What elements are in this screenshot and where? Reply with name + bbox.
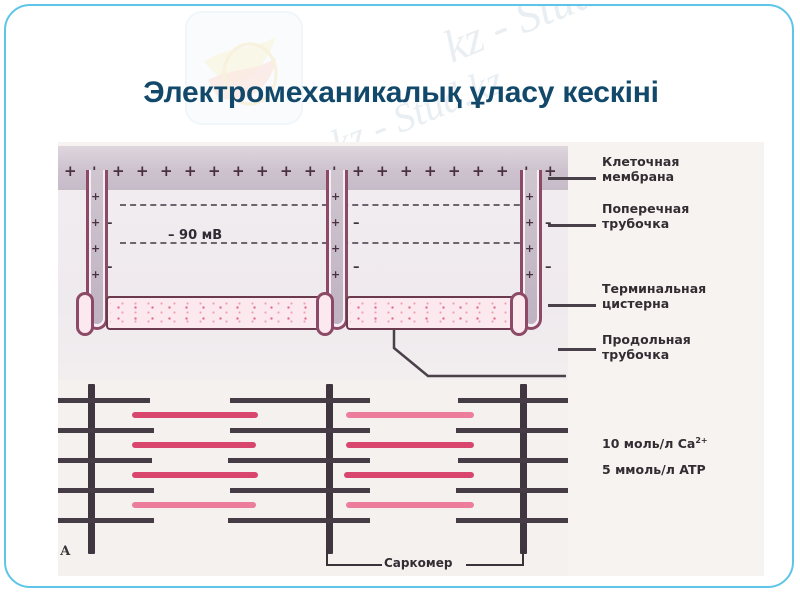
myosin-filament (344, 472, 474, 478)
slide-canvas: kz - Stud.kz kz - Stud.kz Электромеханик… (4, 4, 794, 588)
tubule-positive-charge: + (525, 216, 534, 229)
tubule-positive-charge: + (91, 190, 100, 203)
concentration-atp: 5 ммоль/л ATP (602, 462, 706, 477)
myosin-filament (132, 412, 258, 418)
tubule-positive-charge: + (525, 268, 534, 281)
tubule-positive-charge: + (331, 242, 340, 255)
z-line (88, 384, 95, 554)
leader-line-longitudinal-tubule (558, 348, 596, 351)
myofilament-lattice: Саркомер А (58, 380, 568, 576)
z-line (326, 384, 333, 554)
sarcomere-label: Саркомер (384, 556, 452, 570)
actin-filament (58, 488, 154, 493)
actin-filament (230, 488, 370, 493)
actin-filament (58, 458, 152, 463)
concentration-unit: ммоль/л (615, 462, 675, 477)
tubule-positive-charge: + (331, 190, 340, 203)
label-longitudinal-tubule: Продольная трубочка (602, 332, 691, 362)
actin-filament (230, 398, 370, 403)
label-line-2: трубочка (602, 216, 669, 231)
tubule-positive-charge: + (525, 190, 534, 203)
label-line-2: трубочка (602, 347, 669, 362)
concentration-unit: моль/л (624, 436, 674, 451)
z-line (520, 384, 527, 554)
label-line-2: цистерна (602, 296, 669, 311)
concentration-calcium: 10 моль/л Ca2+ (602, 436, 708, 451)
label-line-1: Продольная (602, 332, 691, 347)
actin-filament (228, 458, 370, 463)
terminal-cisterna (76, 292, 94, 336)
concentration-value: 10 (602, 436, 619, 451)
leader-line-terminal-cisterna (548, 304, 596, 307)
longitudinal-tubule-leader (388, 328, 568, 388)
actin-filament (456, 488, 568, 493)
diagram-figure: ++ ++ ++ ++ ++ ++ ++ ++ ++ ++ + (58, 142, 764, 576)
actin-filament (228, 518, 370, 523)
actin-filament (458, 458, 568, 463)
actin-filament (58, 398, 150, 403)
label-line-2: мембрана (602, 169, 674, 184)
panel-letter: А (60, 544, 71, 559)
muscle-cell-diagram: ++ ++ ++ ++ ++ ++ ++ ++ ++ ++ + (58, 142, 568, 576)
myosin-filament (346, 412, 474, 418)
sarcomere-bracket: Саркомер (326, 550, 526, 576)
tubule-positive-charge: + (331, 216, 340, 229)
inner-negative-charge: – (545, 260, 552, 275)
label-line-1: Поперечная (602, 201, 689, 216)
sarcoplasmic-reticulum (346, 296, 518, 330)
actin-filament (456, 518, 568, 523)
label-line-1: Клеточная (602, 154, 679, 169)
inner-negative-charge: – (353, 260, 360, 275)
myosin-filament (132, 472, 258, 478)
actin-filament (456, 428, 568, 433)
concentration-species: ATP (679, 462, 705, 477)
label-line-1: Терминальная (602, 281, 706, 296)
actin-filament (458, 398, 568, 403)
myosin-filament (346, 442, 474, 448)
concentration-value: 5 (602, 462, 611, 477)
actin-filament (58, 428, 154, 433)
tubule-positive-charge: + (91, 242, 100, 255)
membrane-positive-charges: ++ ++ ++ ++ ++ ++ ++ ++ ++ ++ + (58, 164, 568, 182)
inner-negative-charge: – (353, 216, 360, 231)
leader-line-transverse-tubule (548, 224, 596, 227)
concentration-species: Ca (678, 436, 696, 451)
sarcoplasmic-reticulum (106, 296, 324, 330)
leader-line-cell-membrane (548, 177, 596, 180)
label-transverse-tubule: Поперечная трубочка (602, 201, 689, 231)
actin-filament (58, 518, 154, 523)
myosin-filament (346, 502, 474, 508)
myosin-filament (132, 502, 256, 508)
tubule-positive-charge: + (525, 242, 534, 255)
membrane-voltage-label: – 90 мВ (168, 228, 222, 243)
terminal-cisterna (316, 292, 334, 336)
concentration-charge: 2+ (695, 436, 707, 445)
tubule-positive-charge: + (91, 268, 100, 281)
watermark-top: kz - Stud.kz (436, 4, 649, 73)
label-terminal-cisterna: Терминальная цистерна (602, 281, 706, 311)
actin-filament (230, 428, 370, 433)
page-title: Электромеханикалық ұласу кескіні (6, 76, 794, 110)
label-cell-membrane: Клеточная мембрана (602, 154, 679, 184)
tubule-positive-charge: + (91, 216, 100, 229)
myosin-filament (132, 442, 256, 448)
tubule-positive-charge: + (331, 268, 340, 281)
